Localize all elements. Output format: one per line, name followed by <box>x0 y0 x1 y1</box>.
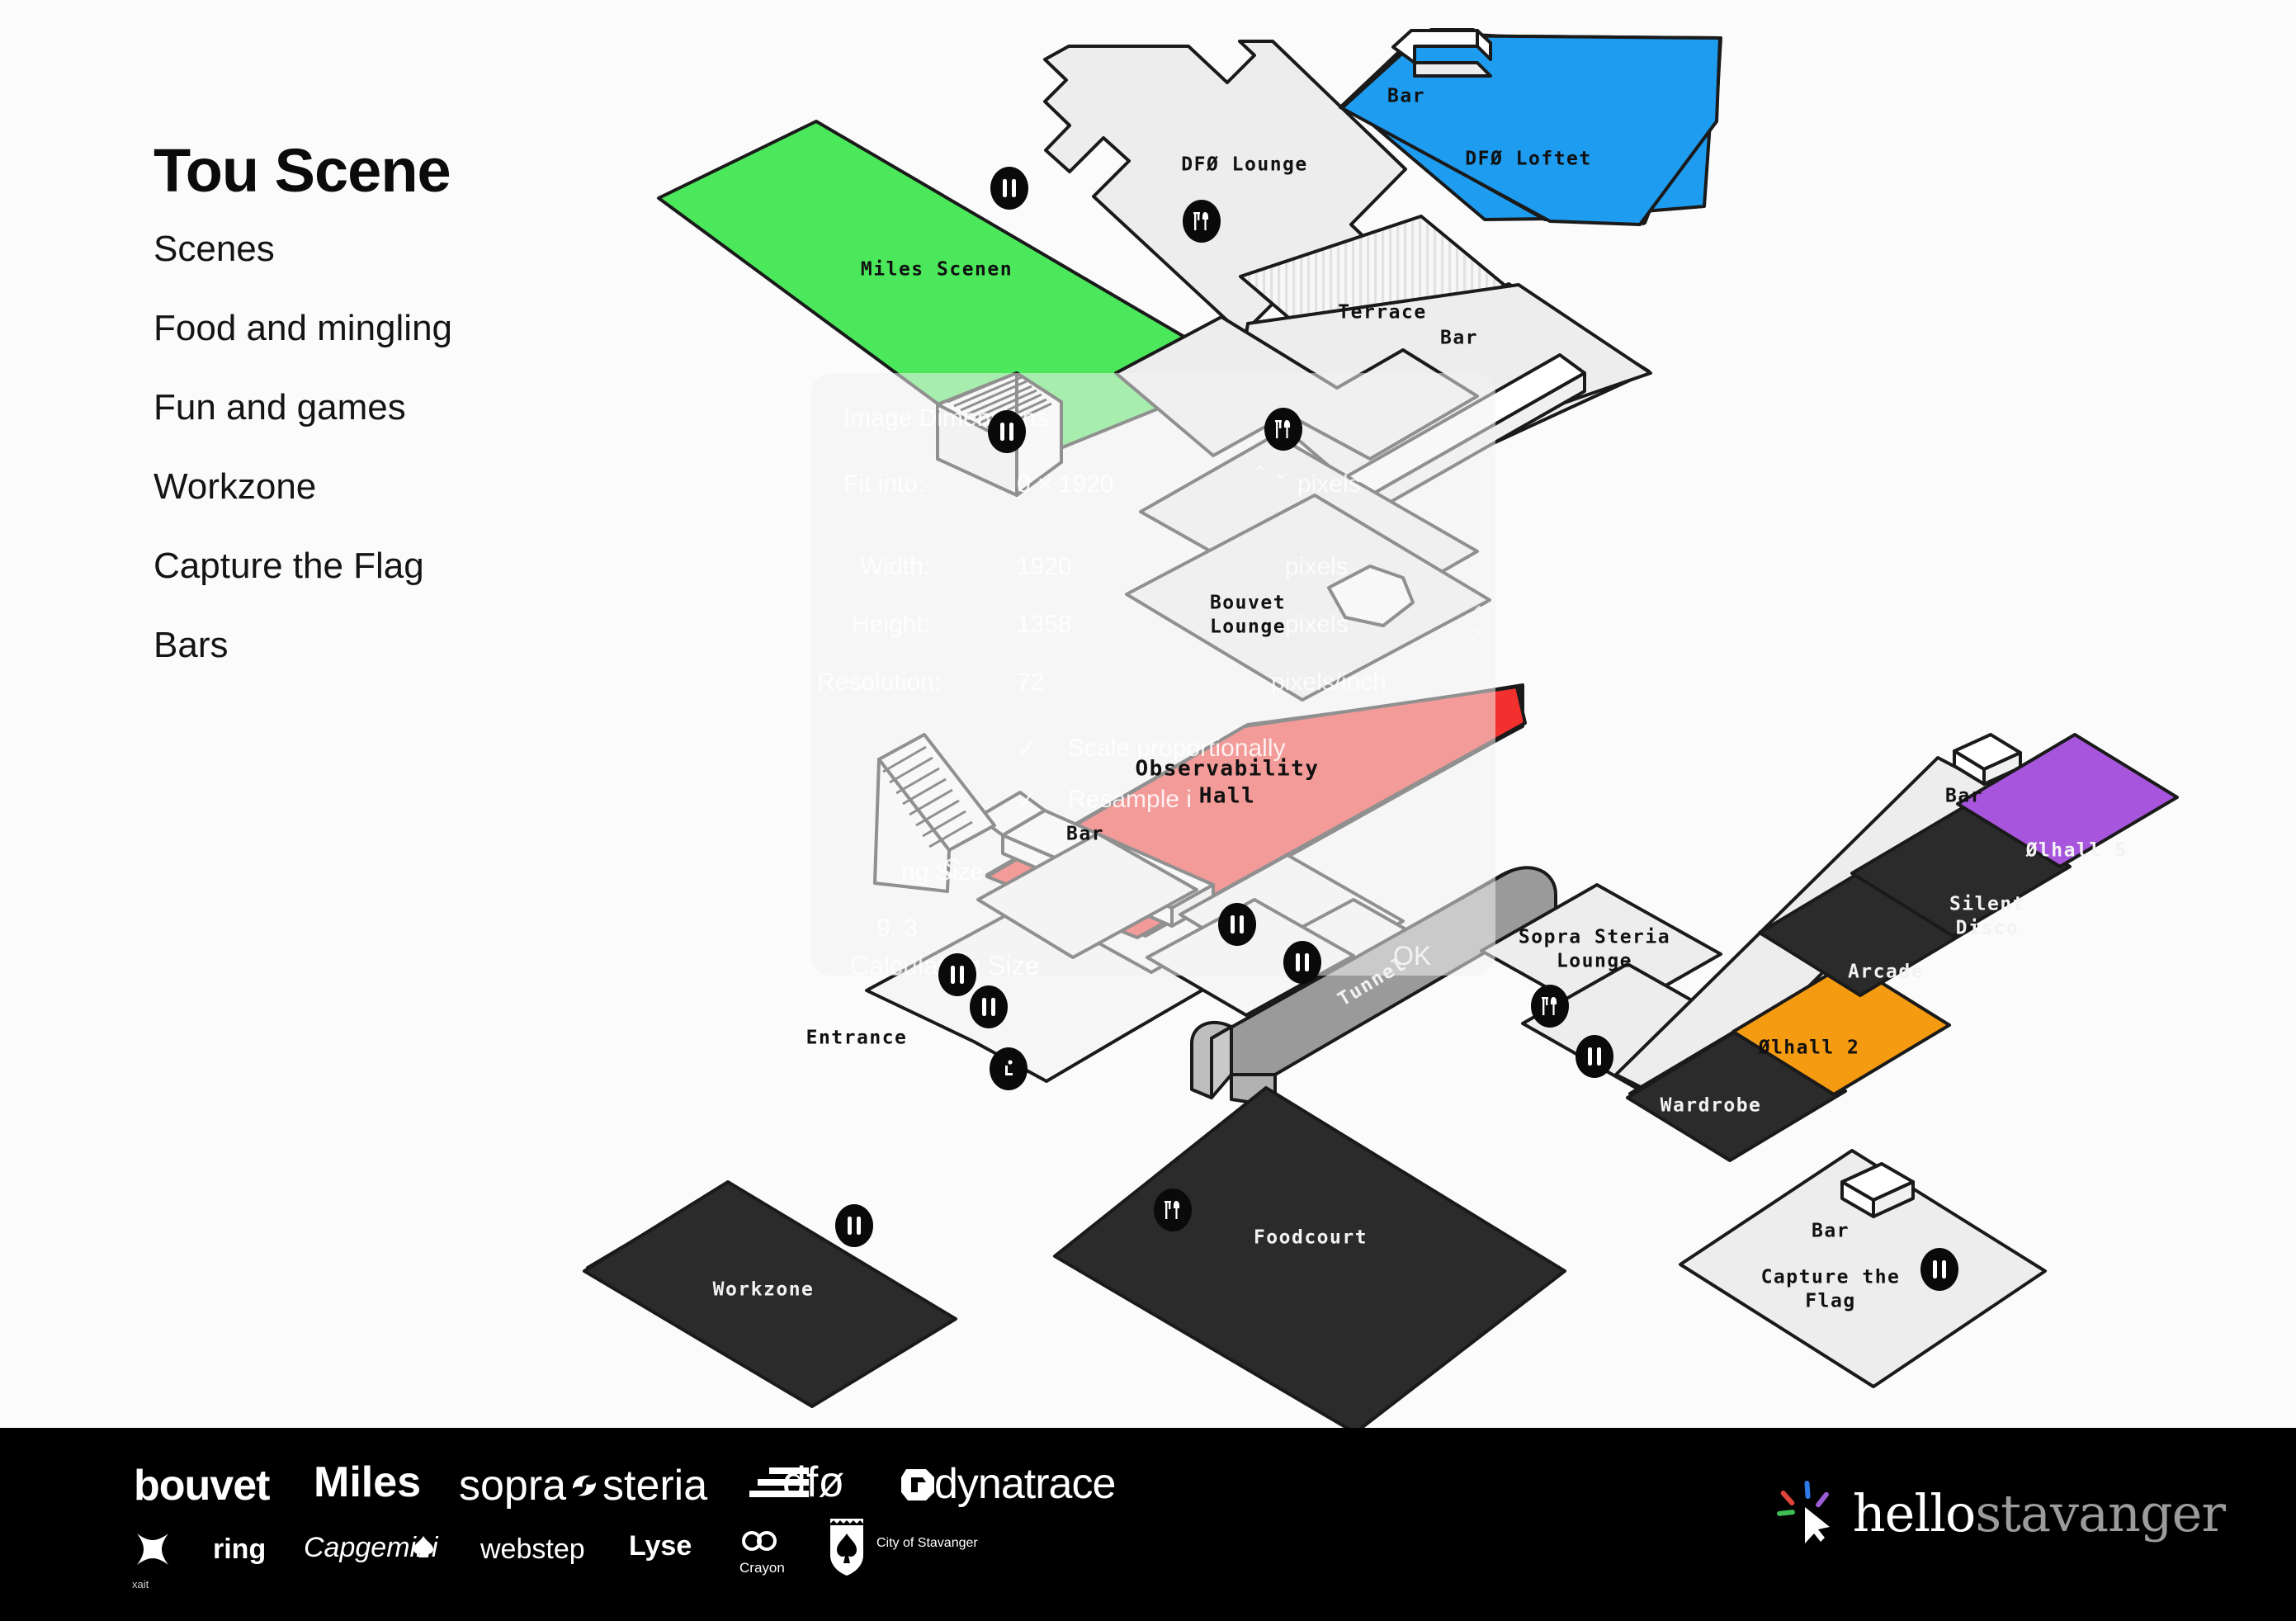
hellostavanger-logo: hellostavanger <box>1775 1477 2225 1549</box>
logo-crayon: Crayon <box>739 1560 785 1576</box>
label-foodcourt: Foodcourt <box>1254 1226 1368 1250</box>
logo-miles: Miles <box>314 1458 421 1507</box>
wc-icon <box>988 410 1026 453</box>
label-bar-observability: Bar <box>1066 823 1104 847</box>
label-observability-hall: Observability Hall <box>1136 756 1320 810</box>
label-entrance: Entrance <box>806 1027 908 1051</box>
brand-stavanger: stavanger <box>1975 1483 2225 1543</box>
sponsor-footer: bouvet Miles sopra steria dfø dynatrace … <box>0 1428 2296 1621</box>
sopra-steria-mark-icon <box>566 1467 602 1504</box>
room-foodcourt-main <box>1055 1088 1565 1428</box>
capgemini-spade-icon <box>411 1534 436 1558</box>
restaurant-icon <box>1154 1189 1192 1231</box>
logo-bouvet: bouvet <box>134 1461 269 1510</box>
label-olhall-5: Ølhall 5 <box>2026 839 2128 863</box>
label-bouvet-lounge: Bouvet Lounge <box>1210 591 1286 639</box>
wc-icon <box>1218 903 1256 946</box>
logo-xait: xait <box>132 1578 149 1590</box>
logo-dynatrace: dynatrace <box>934 1459 1115 1509</box>
wc-icon <box>835 1204 873 1247</box>
label-dfo-lounge: DFØ Lounge <box>1181 154 1307 177</box>
label-bar-loftet: Bar <box>1387 85 1425 109</box>
accessible-icon <box>990 1047 1028 1090</box>
label-silent-disco: Silent Disco <box>1949 892 2025 940</box>
crayon-mark-icon <box>741 1529 779 1553</box>
city-of-stavanger-crest-icon <box>824 1515 870 1578</box>
wc-icon <box>1576 1035 1613 1078</box>
logo-city-of-stavanger: City of Stavanger <box>876 1535 978 1552</box>
label-bar-halls: Bar <box>1945 785 1983 809</box>
label-wardrobe: Wardrobe <box>1661 1094 1762 1118</box>
slide-root: Tou Scene Scenes Food and mingling Fun a… <box>0 0 2296 1621</box>
stairs-observability <box>875 735 994 891</box>
logo-steria: steria <box>602 1461 707 1510</box>
label-arcade: Arcade <box>1848 961 1924 985</box>
logo-lyse: Lyse <box>629 1530 692 1562</box>
dynatrace-mark-icon <box>898 1464 938 1504</box>
cursor-rays-icon <box>1775 1477 1840 1549</box>
wc-icon <box>970 985 1008 1028</box>
label-capture-the-flag: Capture the Flag <box>1761 1265 1901 1313</box>
restaurant-icon <box>1183 200 1221 243</box>
wc-icon <box>990 167 1028 210</box>
restaurant-icon <box>1264 408 1302 451</box>
label-dfo-loftet: DFØ Loftet <box>1465 148 1591 172</box>
label-sopra-steria-lounge: Sopra Steria Lounge <box>1519 925 1670 973</box>
venue-map: Image Dimensions Fit into: 0 × 1920 pixe… <box>0 0 2296 1428</box>
logo-webstep: webstep <box>480 1534 585 1566</box>
hellostavanger-wordmark: hellostavanger <box>1853 1483 2225 1543</box>
brand-hello: hello <box>1853 1483 1976 1543</box>
logo-ring: ring <box>213 1534 266 1566</box>
label-terrace: Terrace <box>1338 301 1426 325</box>
label-olhall-2: Ølhall 2 <box>1759 1037 1860 1061</box>
label-miles-scenen: Miles Scenen <box>861 258 1013 282</box>
map-vector <box>0 0 2296 1428</box>
wc-icon <box>938 953 976 996</box>
xait-mark-icon <box>132 1529 173 1573</box>
label-bar-terrace: Bar <box>1440 327 1478 351</box>
wc-icon <box>1283 941 1321 984</box>
restaurant-icon <box>1531 985 1569 1028</box>
wc-icon <box>1920 1248 1958 1291</box>
label-workzone: Workzone <box>713 1278 815 1302</box>
logo-sopra: sopra <box>459 1461 566 1510</box>
logo-dfo: dfø <box>782 1458 844 1507</box>
label-bar-ctf: Bar <box>1812 1220 1850 1244</box>
